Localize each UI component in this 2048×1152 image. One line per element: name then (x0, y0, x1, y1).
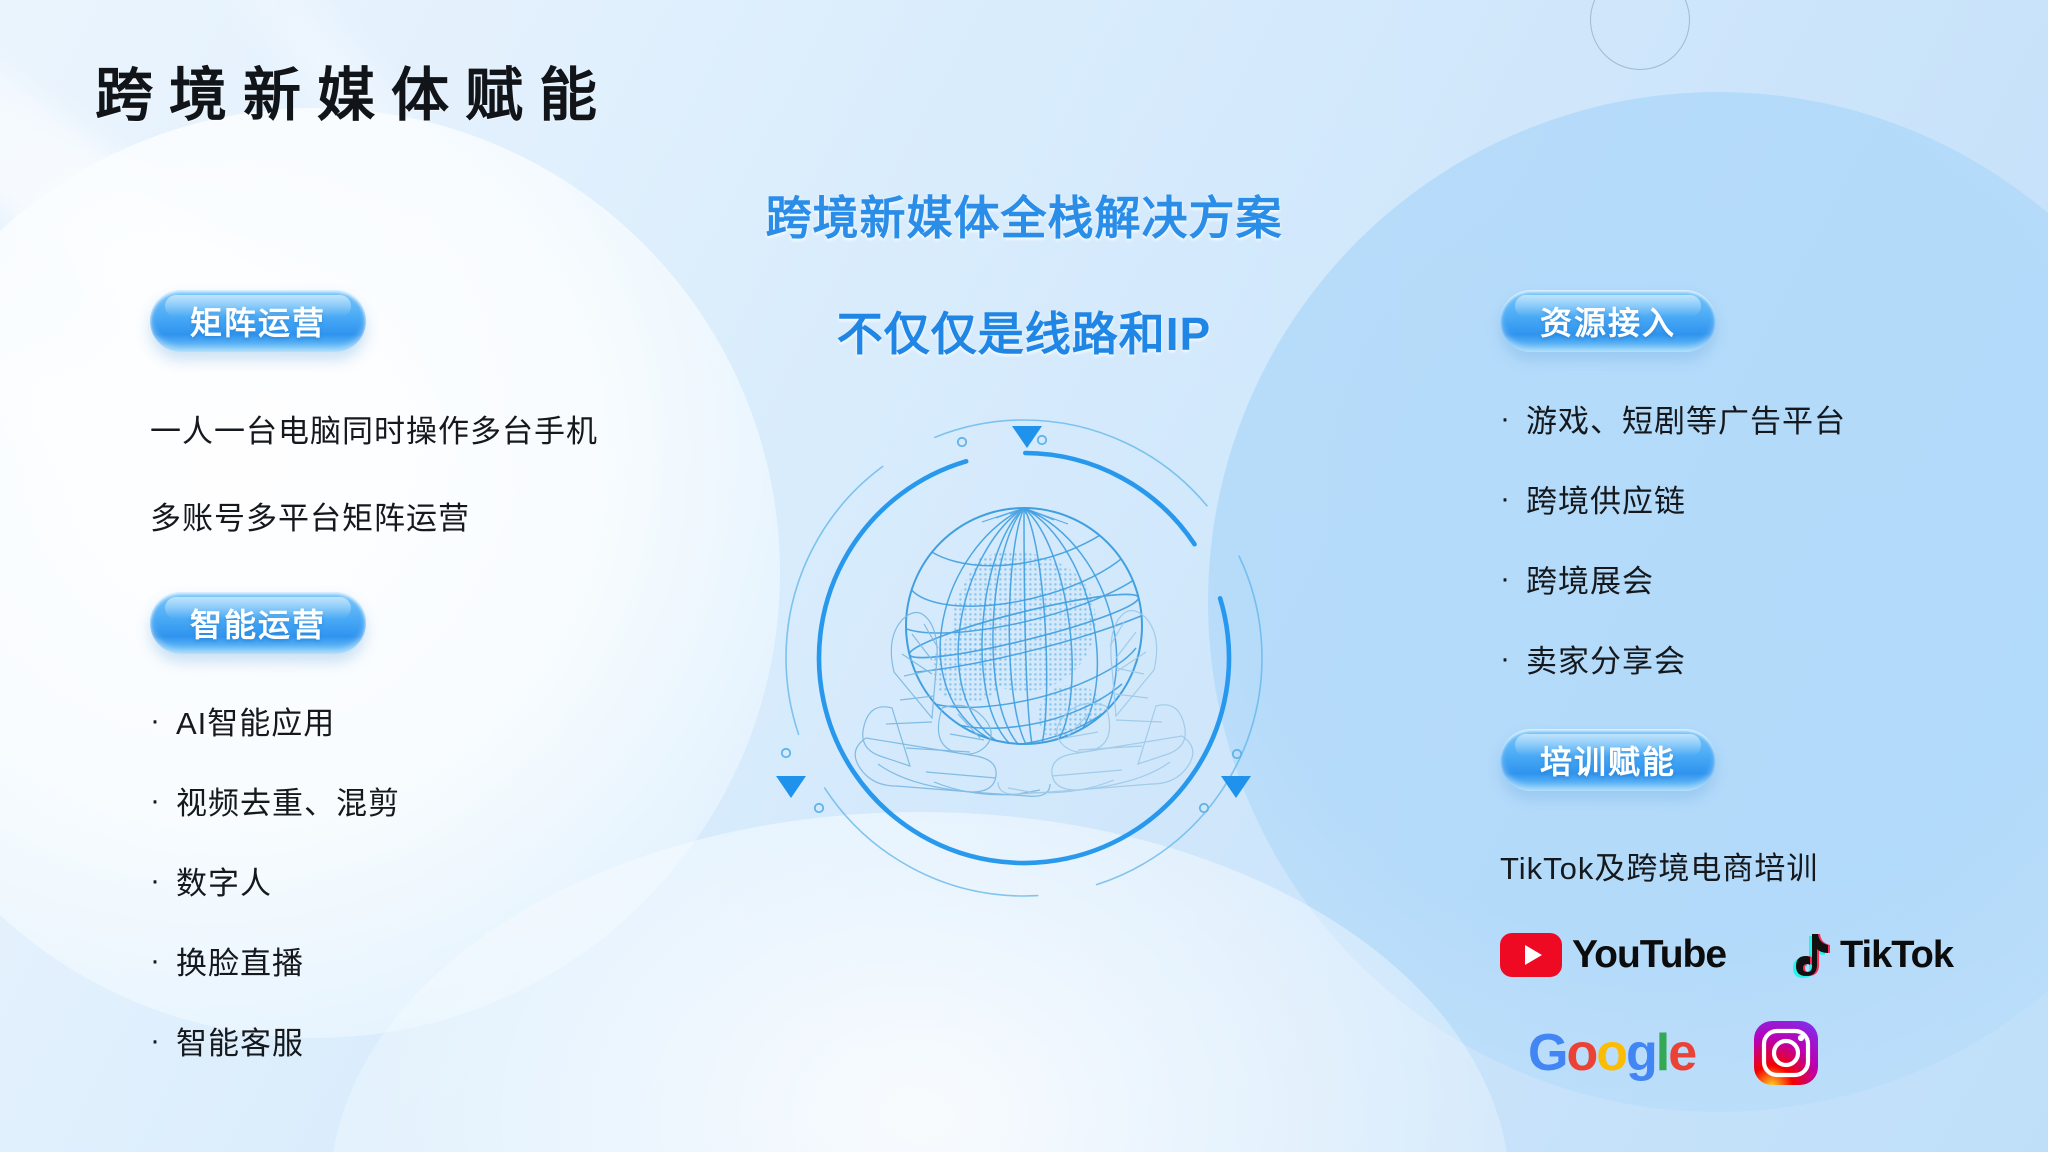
google-letter-g2: g (1626, 1024, 1656, 1082)
google-letter-o2: o (1596, 1024, 1626, 1082)
youtube-logo: YouTube (1500, 933, 1726, 977)
youtube-logo-label: YouTube (1572, 933, 1726, 977)
youtube-play-icon (1500, 933, 1562, 977)
pill-matrix-operations[interactable]: 矩阵运营 (150, 290, 366, 352)
list-item: · 视频去重、混剪 (150, 778, 770, 823)
list-item: · 数字人 (150, 858, 770, 903)
resource-access-bullet-list: · 游戏、短剧等广告平台 · 跨境供应链 · 跨境展会 · 卖家分享会 (1500, 396, 2020, 681)
bullet-marker-icon: · (150, 866, 168, 896)
headline-block: 跨境新媒体全栈解决方案 不仅仅是线路和IP (766, 182, 1283, 364)
bullet-marker-icon: · (150, 1026, 168, 1056)
list-item-label: 视频去重、混剪 (176, 778, 400, 823)
logo-row-1: YouTube TikTok (1500, 932, 2020, 978)
decorative-ring-top-right (1590, 0, 1690, 70)
list-item: · 卖家分享会 (1500, 636, 2020, 681)
google-letter-o1: o (1566, 1024, 1596, 1082)
smart-operations-bullet-list: · AI智能应用 · 视频去重、混剪 · 数字人 · 换脸直播 · 智能客服 (150, 698, 770, 1063)
bullet-marker-icon: · (1500, 564, 1518, 594)
list-item: · AI智能应用 (150, 698, 770, 743)
resource-access-section: 资源接入 · 游戏、短剧等广告平台 · 跨境供应链 · 跨境展会 · 卖家分享会 (1500, 290, 2020, 681)
list-item: · 跨境展会 (1500, 556, 2020, 601)
bullet-marker-icon: · (1500, 484, 1518, 514)
google-logo: Google (1528, 1027, 1695, 1079)
list-item-label: 卖家分享会 (1526, 636, 1686, 681)
left-column: 矩阵运营 一人一台电脑同时操作多台手机 多账号多平台矩阵运营 智能运营 · AI… (150, 290, 770, 1098)
pill-training-empowerment[interactable]: 培训赋能 (1500, 729, 1716, 791)
tiktok-note-icon (1788, 932, 1832, 978)
list-item: · 游戏、短剧等广告平台 (1500, 396, 2020, 441)
right-column: 资源接入 · 游戏、短剧等广告平台 · 跨境供应链 · 跨境展会 · 卖家分享会 (1500, 290, 2020, 1086)
tiktok-logo-label: TikTok (1840, 934, 1953, 977)
smart-operations-section: 智能运营 · AI智能应用 · 视频去重、混剪 · 数字人 · 换脸直播 (150, 592, 770, 1063)
list-item-label: 游戏、短剧等广告平台 (1526, 396, 1846, 441)
pill-smart-operations[interactable]: 智能运营 (150, 592, 366, 654)
pill-resource-access[interactable]: 资源接入 (1500, 290, 1716, 352)
list-item: · 换脸直播 (150, 938, 770, 983)
list-item-label: 换脸直播 (176, 938, 304, 983)
training-empowerment-section: 培训赋能 TikTok及跨境电商培训 YouTube (1500, 729, 2020, 1086)
headline-line-1: 跨境新媒体全栈解决方案 (766, 182, 1283, 248)
bullet-marker-icon: · (150, 706, 168, 736)
headline-line-2: 不仅仅是线路和IP (766, 298, 1283, 364)
training-caption: TikTok及跨境电商培训 (1500, 843, 2020, 888)
instagram-logo (1753, 1020, 1819, 1086)
matrix-operations-section: 矩阵运营 一人一台电脑同时操作多台手机 多账号多平台矩阵运营 (150, 290, 770, 538)
globe-in-hands-illustration (774, 408, 1274, 908)
slide-canvas: 跨境新媒体赋能 跨境新媒体全栈解决方案 不仅仅是线路和IP (0, 0, 2048, 1152)
list-item: · 智能客服 (150, 1018, 770, 1063)
google-letter-g1: G (1528, 1024, 1566, 1082)
google-letter-e: e (1668, 1024, 1695, 1082)
bullet-marker-icon: · (1500, 644, 1518, 674)
bullet-marker-icon: · (1500, 404, 1518, 434)
list-item-label: 跨境供应链 (1526, 476, 1686, 521)
matrix-paragraph-1: 一人一台电脑同时操作多台手机 (150, 406, 770, 451)
tiktok-logo: TikTok (1788, 932, 1953, 978)
list-item-label: 跨境展会 (1526, 556, 1654, 601)
matrix-paragraph-2: 多账号多平台矩阵运营 (150, 493, 770, 538)
list-item-label: 智能客服 (176, 1018, 304, 1063)
bullet-marker-icon: · (150, 946, 168, 976)
google-letter-l: l (1656, 1024, 1668, 1082)
list-item: · 跨境供应链 (1500, 476, 2020, 521)
page-title: 跨境新媒体赋能 (95, 48, 613, 132)
bullet-marker-icon: · (150, 786, 168, 816)
list-item-label: AI智能应用 (176, 698, 335, 743)
list-item-label: 数字人 (176, 858, 272, 903)
logo-row-2: Google (1500, 1020, 2020, 1086)
